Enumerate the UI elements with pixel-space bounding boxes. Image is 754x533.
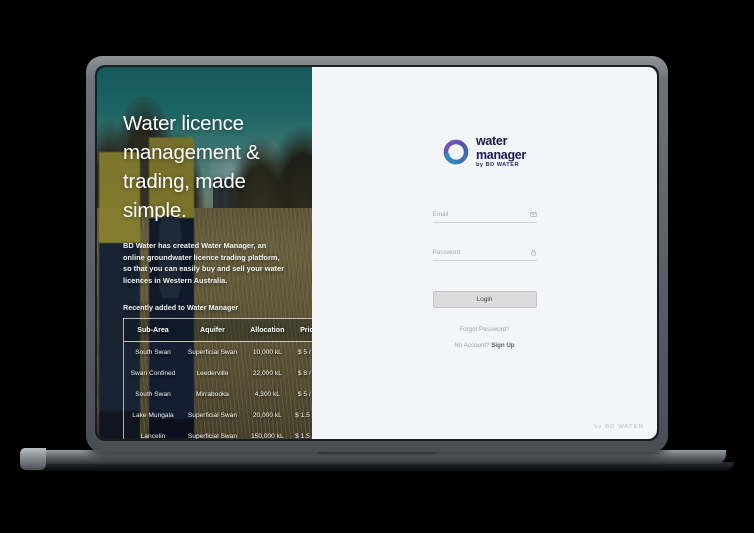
panel-footer-byline: by BD WATER [594,424,644,430]
column-header-price: Price [292,319,312,342]
cell-sub-area: South Swan [124,384,183,405]
recent-licences-table: Sub-Area Aquifer Allocation Price Date A… [123,318,312,439]
sign-up-link[interactable]: Sign Up [491,342,514,349]
cell-price: $ 1.5 / kL [292,405,312,426]
cell-aquifer: Superficial Swan [182,405,243,426]
table-row[interactable]: South Swan Superficial Swan 10,000 kL $ … [124,342,313,364]
cell-aquifer: Leederville [182,363,243,384]
brand-line-2: manager [476,149,526,162]
cell-aquifer: Superficial Swan [182,342,243,364]
brand-tagline: by BD WATER [476,163,526,169]
cell-sub-area: Lake Mungala [124,405,183,426]
column-header-allocation: Allocation [243,319,292,342]
screenshot-root: Water licence management & trading, made… [0,0,754,533]
password-field-wrapper[interactable] [433,249,537,261]
cell-price: $ 8 / kL [292,363,312,384]
column-header-aquifer: Aquifer [182,319,243,342]
lock-icon [530,249,537,256]
laptop-lid: Water licence management & trading, made… [86,56,668,452]
hero-subcopy: BD Water has created Water Manager, an o… [123,240,286,286]
cell-aquifer: Superficial Swan [182,426,243,439]
envelope-icon [530,211,537,218]
column-header-sub-area: Sub-Area [124,319,183,342]
login-helper-links: Forgot Password? No Account? Sign Up [454,326,514,349]
hero-headline: Water licence management & trading, made… [123,109,286,225]
cell-allocation: 4,300 kL [243,384,292,405]
cell-allocation: 10,000 kL [243,342,292,364]
laptop-left-foot [20,448,46,470]
hero-panel: Water licence management & trading, made… [97,67,312,439]
cell-allocation: 20,000 kL [243,405,292,426]
password-input[interactable] [433,249,517,256]
water-swirl-ring-icon [443,139,469,165]
table-caption: Recently added to Water Manager [123,303,286,312]
cell-sub-area: South Swan [124,342,183,364]
brand-wordmark: water manager by BD WATER [476,135,526,169]
login-button[interactable]: Login [433,291,537,308]
table-row[interactable]: Swan Confined Leederville 22,000 kL $ 8 … [124,363,313,384]
cell-allocation: 150,000 kL [243,426,292,439]
no-account-row: No Account? Sign Up [454,342,514,349]
brand-lockup: water manager by BD WATER [443,135,526,169]
email-input[interactable] [433,211,517,218]
table-row[interactable]: Lake Mungala Superficial Swan 20,000 kL … [124,405,313,426]
laptop-mockup: Water licence management & trading, made… [86,56,668,452]
hero-content: Water licence management & trading, made… [97,67,312,439]
no-account-text: No Account? [454,342,489,349]
laptop-base [28,450,726,464]
brand-line-1: water [476,135,526,148]
cell-sub-area: Lancelin [124,426,183,439]
cell-sub-area: Swan Confined [124,363,183,384]
login-panel: water manager by BD WATER [312,67,657,439]
table-row[interactable]: Lancelin Superficial Swan 150,000 kL $ 1… [124,426,313,439]
screen-bezel: Water licence management & trading, made… [95,65,659,441]
forgot-password-link[interactable]: Forgot Password? [454,326,514,333]
cell-allocation: 22,000 kL [243,363,292,384]
cell-price: $ 5 / kL [292,384,312,405]
table-header-row: Sub-Area Aquifer Allocation Price Date A… [124,319,313,342]
cell-price: $ 5 / kL [292,342,312,364]
cell-aquifer: Mirrabooka [182,384,243,405]
email-field-wrapper[interactable] [433,211,537,223]
screen: Water licence management & trading, made… [97,67,657,439]
table-row[interactable]: South Swan Mirrabooka 4,300 kL $ 5 / kL … [124,384,313,405]
cell-price: $ 1.5 / kL [292,426,312,439]
